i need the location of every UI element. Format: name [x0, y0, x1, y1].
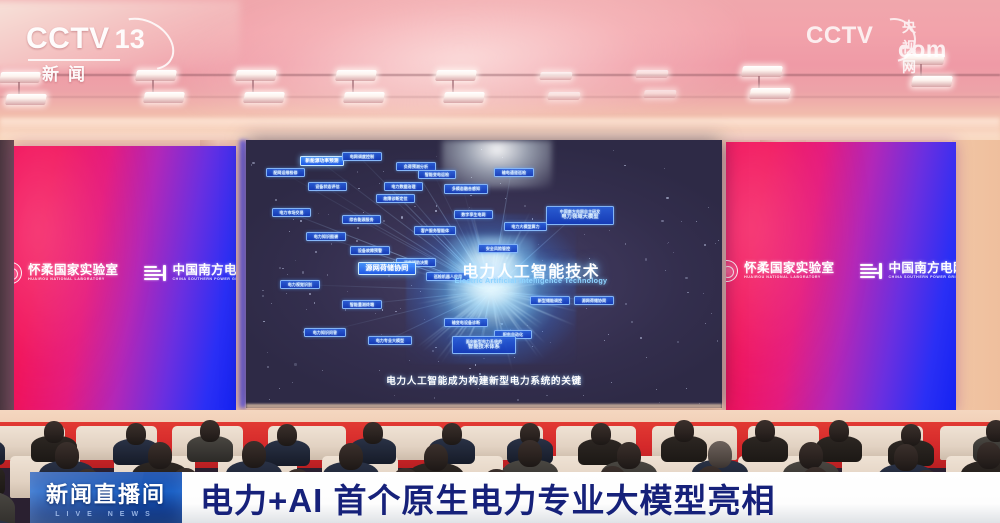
- audience-member-head: [126, 423, 146, 445]
- cctv-wordmark: CCTV: [26, 22, 110, 56]
- topic-node: 综合能源服务: [342, 215, 381, 224]
- logo-en-label: HUAIROU NATIONAL LABORATORY: [28, 278, 118, 282]
- audience-member-head: [339, 443, 363, 470]
- watermark-dotcom-label: com: [898, 36, 947, 63]
- topic-node: 电力知识图谱: [306, 232, 346, 241]
- topic-node: 数字孪生电网: [454, 210, 493, 219]
- lower-third: 新闻直播间 LIVE NEWS 电力+AI 首个原生电力专业大模型亮相: [30, 472, 1000, 523]
- topic-node: 配网运维检修: [266, 168, 305, 177]
- cctv-underline: [28, 59, 120, 61]
- logo-en-label: CHINA SOUTHERN POWER GRID: [172, 278, 236, 282]
- topic-node: 故障诊断定位: [376, 194, 415, 203]
- logo-huairou-lab: 怀柔国家实验室 HUAIROU NATIONAL LABORATORY: [726, 260, 834, 282]
- core-top-flare: [442, 140, 552, 188]
- stage-panel-right: 怀柔国家实验室 HUAIROU NATIONAL LABORATORY 中国南方…: [726, 142, 956, 412]
- audience-member-head: [829, 420, 849, 442]
- topic-node: 电网调度控制: [342, 152, 382, 161]
- topic-node: 安全风险管控: [478, 244, 518, 253]
- topic-node: 智能变电运检: [418, 170, 456, 179]
- seal-emblem-icon: [14, 262, 22, 284]
- audience-member-shoulders: [0, 463, 5, 495]
- logo-huairou-lab: 怀柔国家实验室 HUAIROU NATIONAL LABORATORY: [14, 262, 118, 284]
- topic-node: 新能源功率预测: [300, 156, 344, 166]
- audience-member-head: [986, 420, 1000, 442]
- audience-member-head: [674, 420, 694, 442]
- audience-member-head: [901, 424, 921, 446]
- audience-member-head: [442, 423, 462, 445]
- stage-panel-left: 怀柔国家实验室 HUAIROU NATIONAL LABORATORY 中国南方…: [14, 146, 236, 414]
- audience-member-head: [44, 421, 64, 443]
- main-presentation-screen: 配网运维检修新能源功率预测电网调度控制负荷预测分析输电通道巡检智能变电运检设备状…: [246, 140, 722, 408]
- topic-node: 新型储能调控: [530, 296, 570, 305]
- screen-caption: 电力人工智能成为构建新型电力系统的关键: [324, 373, 644, 387]
- audience-member-head: [617, 442, 641, 469]
- topic-node: 输变电设备诊断: [444, 318, 488, 327]
- audience-member-head: [755, 420, 775, 442]
- audience-member-head: [363, 422, 383, 444]
- topic-node-highlighted: 源网荷储协同: [358, 262, 416, 275]
- power-grid-icon: [860, 263, 882, 279]
- screen-subtitle: Electric Artificial Intelligence Technol…: [396, 276, 666, 285]
- broadcast-frame: 怀柔国家实验室 HUAIROU NATIONAL LABORATORY 中国南方…: [0, 0, 1000, 523]
- watermark-wordmark: CCTV: [806, 24, 873, 48]
- topic-node: 智能量测终端: [342, 300, 382, 309]
- topic-node: 输电通道巡检: [494, 168, 534, 177]
- audience-member-head: [894, 444, 918, 471]
- logo-cn-label: 怀柔国家实验室: [744, 262, 834, 275]
- topic-node: 电力知识问答: [304, 328, 346, 337]
- logo-en-label: CHINA SOUTHERN POWER GRID: [888, 276, 956, 280]
- seal-emblem-icon: [726, 260, 738, 282]
- audience-member-head: [708, 441, 732, 468]
- topic-node: 源网荷储协同: [574, 296, 614, 305]
- topic-node-stacked: 面向新型电力系统的智能技术体系: [452, 336, 516, 354]
- topic-node: 电力市场交易: [272, 208, 311, 217]
- topic-node: 电力大模型算力: [504, 222, 547, 231]
- audience-member-head: [518, 440, 542, 467]
- panel-logo-row-right: 怀柔国家实验室 HUAIROU NATIONAL LABORATORY 中国南方…: [726, 260, 956, 282]
- wall-left-shadow: [0, 140, 14, 430]
- audience-member-head: [277, 424, 297, 446]
- program-name: 新闻直播间: [46, 477, 166, 509]
- logo-cn-label: 中国南方电网: [888, 262, 956, 275]
- topic-node: 客户服务智能体: [414, 226, 456, 235]
- audience-member-head: [200, 420, 220, 442]
- topic-node: 电力专业大模型: [368, 336, 412, 345]
- topic-node: 多模态融合感知: [444, 184, 488, 194]
- watermark-cctv-com: CCTV 央视网 com: [806, 24, 873, 48]
- headline-bar: 电力+AI 首个原生电力专业大模型亮相: [182, 472, 1000, 523]
- logo-southern-power-grid: 中国南方电网 CHINA SOUTHERN POWER GRID: [144, 264, 236, 281]
- channel-bug-cctv13: CCTV 13 新闻: [26, 22, 145, 85]
- wall-right-edge: [952, 140, 1000, 430]
- power-grid-icon: [144, 265, 166, 281]
- audience-member-head: [242, 441, 266, 468]
- topic-node: 电力数据治理: [384, 182, 423, 191]
- logo-cn-label: 怀柔国家实验室: [28, 264, 118, 277]
- logo-cn-label: 中国南方电网: [172, 264, 236, 277]
- logo-en-label: HUAIROU NATIONAL LABORATORY: [744, 276, 834, 280]
- topic-node: 电力视觉识别: [280, 280, 320, 289]
- audience-member-head: [591, 423, 611, 445]
- logo-southern-power-grid: 中国南方电网 CHINA SOUTHERN POWER GRID: [860, 262, 956, 279]
- audience-member-head: [424, 444, 448, 471]
- program-subtitle: LIVE NEWS: [55, 511, 157, 518]
- topic-node-stacked: 中国南方电网自主研发电力领域大模型: [546, 206, 614, 225]
- audience-member-head: [55, 442, 79, 469]
- headline-text: 电力+AI 首个原生电力专业大模型亮相: [200, 474, 775, 522]
- topic-node: 设备故障预警: [350, 246, 390, 255]
- audience-member-head: [977, 442, 1000, 469]
- audience-member-head: [799, 442, 823, 469]
- program-badge: 新闻直播间 LIVE NEWS: [30, 472, 182, 523]
- topic-node: 设备状态评估: [308, 182, 347, 191]
- panel-logo-row-left: 怀柔国家实验室 HUAIROU NATIONAL LABORATORY 中国南方…: [14, 262, 236, 284]
- audience-member-head: [148, 442, 172, 469]
